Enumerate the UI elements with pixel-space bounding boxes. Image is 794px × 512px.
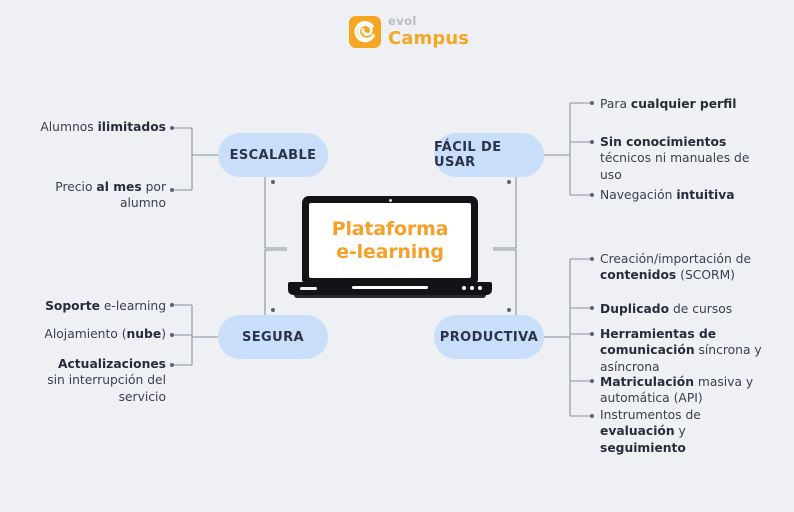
leaf-productiva-1: Duplicado de cursos — [600, 301, 770, 317]
screen-title-line2: e-learning — [336, 241, 444, 263]
node-productiva[interactable]: PRODUCTIVA — [434, 315, 544, 359]
laptop-base-dash — [300, 287, 317, 290]
node-segura[interactable]: SEGURA — [218, 315, 328, 359]
leaf-segura-0: Soporte e-learning — [38, 298, 166, 314]
infographic-canvas: evol Campus ESCALABLE FÁCIL DE USAR SEGU… — [0, 0, 794, 512]
leaf-productiva-2: Herramientas de comunicación síncrona y … — [600, 326, 770, 375]
laptop-foot — [294, 295, 486, 298]
laptop-illustration: Plataforma e-learning — [288, 196, 492, 301]
laptop-base-dots — [462, 286, 482, 290]
leaf-escalable-0: Alumnos ilimitados — [40, 119, 166, 135]
leaf-escalable-1: Precio al mes por alumno — [40, 179, 166, 212]
laptop-base — [288, 282, 492, 295]
node-escalable[interactable]: ESCALABLE — [218, 133, 328, 177]
leaf-facil-0: Para cualquier perfil — [600, 96, 768, 112]
logo-evol-text: evol — [388, 16, 469, 28]
laptop-trackpad — [352, 286, 428, 289]
brand-logo: evol Campus — [349, 16, 469, 48]
leaf-segura-2: Actualizaciones sin interrupción del ser… — [38, 356, 166, 405]
leaf-productiva-0: Creación/importación de contenidos (SCOR… — [600, 251, 770, 284]
leaf-facil-2: Navegación intuitiva — [600, 187, 768, 203]
logo-wordmark: evol Campus — [388, 16, 469, 48]
laptop-screen: Plataforma e-learning — [309, 203, 471, 278]
screen-title-line1: Plataforma — [332, 218, 448, 240]
spiral-icon — [349, 16, 381, 48]
leaf-facil-1: Sin conocimientos técnicos ni manuales d… — [600, 134, 768, 183]
leaf-productiva-3: Matriculación masiva y automática (API) — [600, 374, 770, 407]
leaf-segura-1: Alojamiento (nube) — [38, 326, 166, 342]
logo-campus-text: Campus — [388, 30, 469, 48]
node-facil-de-usar[interactable]: FÁCIL DE USAR — [434, 133, 544, 177]
leaf-productiva-4: Instrumentos de evaluación y seguimiento — [600, 407, 770, 456]
laptop-lid: Plataforma e-learning — [302, 196, 478, 282]
webcam-icon — [389, 199, 392, 202]
